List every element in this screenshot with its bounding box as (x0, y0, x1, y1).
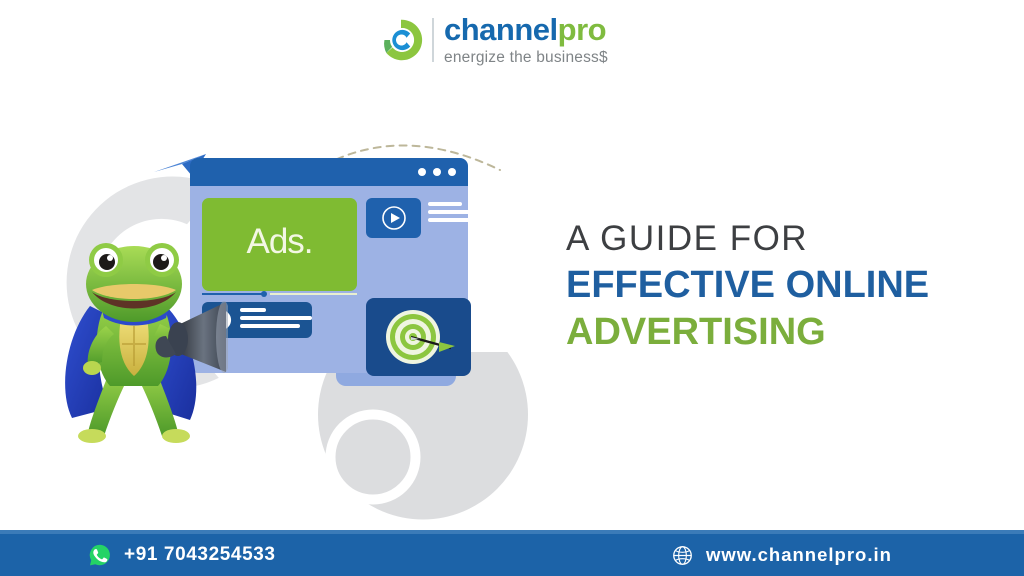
globe-icon (672, 545, 693, 566)
headline-line-2: EFFECTIVE ONLINE (566, 263, 986, 308)
headline-line-3: ADVERTISING (566, 310, 986, 355)
window-control-dots (418, 168, 456, 176)
progress-handle (261, 291, 267, 297)
brand-logo[interactable]: channelpro energize the business$ (378, 14, 608, 66)
text-line (240, 316, 312, 320)
banner-canvas: channelpro energize the business$ Ads. (0, 0, 1024, 576)
browser-window-illustration: Ads. (190, 158, 468, 373)
video-thumb-card-top (366, 198, 421, 238)
window-dot-icon (448, 168, 456, 176)
logo-word-pro: pro (558, 12, 606, 47)
play-button-icon (381, 205, 407, 231)
channelpro-c-mark-icon (378, 17, 424, 63)
text-line (240, 308, 266, 312)
logo-divider (432, 18, 434, 62)
text-line (428, 202, 462, 206)
text-line (428, 210, 490, 214)
superhero-frog-mascot (48, 240, 228, 445)
logo-word-channel: channel (444, 12, 558, 47)
target-card (366, 298, 471, 376)
footer-bar: +91 7043254533 www.channelpro.in (0, 534, 1024, 576)
whatsapp-icon (88, 543, 112, 567)
logo-tagline: energize the business$ (444, 50, 608, 66)
text-lines-top (428, 202, 490, 226)
dartboard-target-icon (381, 304, 457, 370)
headline-block: A GUIDE FOR EFFECTIVE ONLINE ADVERTISING (566, 218, 986, 355)
footer-phone-number: +91 7043254533 (124, 544, 276, 566)
footer-website-group[interactable]: www.channelpro.in (672, 544, 892, 566)
window-dot-icon (418, 168, 426, 176)
browser-title-bar (190, 158, 468, 186)
text-line (428, 218, 478, 222)
text-line (240, 324, 300, 328)
progress-track (270, 293, 357, 296)
ads-card-label: Ads. (246, 222, 312, 262)
footer-phone-group[interactable]: +91 7043254533 (88, 543, 276, 567)
footer-website-url: www.channelpro.in (706, 544, 892, 566)
logo-wordmark: channelpro (444, 14, 608, 45)
headline-line-1: A GUIDE FOR (566, 218, 986, 259)
browser-content-area: Ads. (190, 186, 468, 373)
window-dot-icon (433, 168, 441, 176)
